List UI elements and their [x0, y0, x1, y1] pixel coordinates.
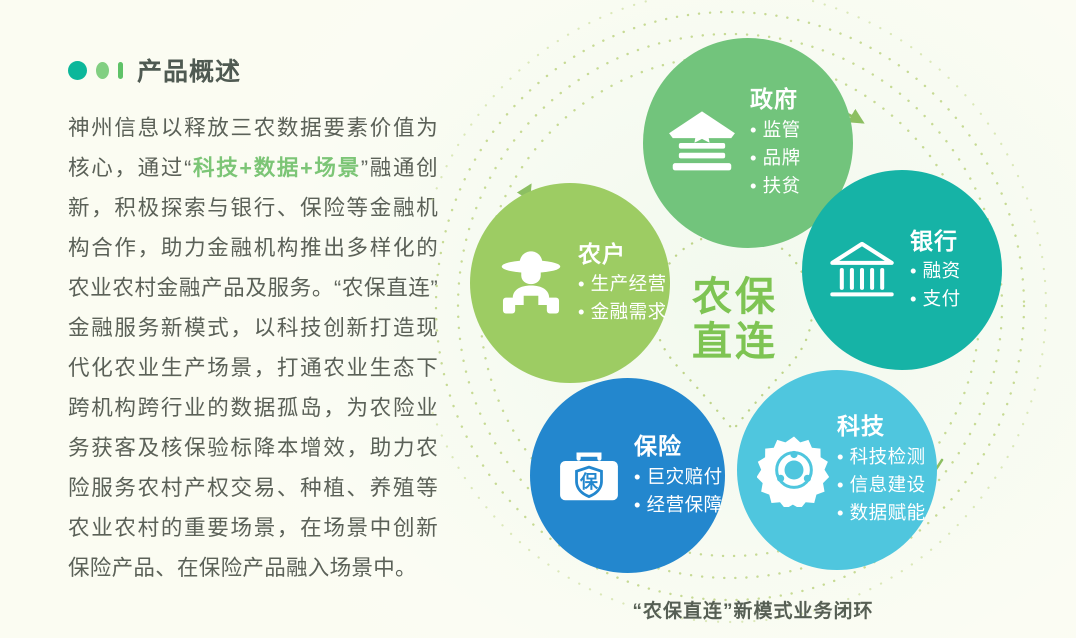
overview-paragraph: 神州信息以释放三农数据要素价值为核心，通过“科技+数据+场景”融通创新，积极探索…	[68, 108, 438, 588]
diagram-center-label: 农保 直连	[655, 245, 815, 395]
node-technology[interactable]: 科技 科技检测 信息建设 数据赋能	[737, 370, 937, 570]
node-technology-labels: 科技 科技检测 信息建设 数据赋能	[837, 412, 926, 527]
node-item: 经营保障	[634, 491, 723, 519]
node-item: 信息建设	[837, 471, 926, 499]
node-title: 科技	[837, 412, 885, 441]
node-item: 生产经营	[578, 270, 667, 298]
center-label-line-2: 直连	[692, 320, 778, 365]
node-bank-labels: 银行 融资 支付	[910, 227, 961, 314]
node-item: 品牌	[750, 144, 801, 172]
node-item: 监管	[750, 116, 801, 144]
business-loop-diagram: 政府 监管 品牌 扶贫 银行 融资	[430, 0, 1076, 638]
bar-dot-green-icon	[118, 62, 123, 79]
node-item: 巨灾赔付	[634, 463, 723, 491]
center-label-line-1: 农保	[692, 275, 778, 320]
insurance-briefcase-shield-icon: 保	[552, 439, 626, 513]
node-item: 融资	[910, 257, 961, 285]
paragraph-highlight: 科技+数据+场景	[192, 156, 361, 180]
svg-text:保: 保	[579, 471, 599, 492]
farmer-person-icon	[492, 244, 570, 322]
node-insurance[interactable]: 保 保险 巨灾赔付 经营保障	[530, 378, 725, 573]
node-government-labels: 政府 监管 品牌 扶贫	[750, 85, 801, 200]
circle-dot-green-icon	[96, 62, 109, 79]
node-title: 农户	[578, 240, 626, 269]
bank-columns-icon	[824, 232, 900, 308]
overview-text-panel: 产品概述 神州信息以释放三农数据要素价值为核心，通过“科技+数据+场景”融通创新…	[68, 52, 438, 588]
node-title: 银行	[910, 227, 958, 256]
node-item: 金融需求	[578, 298, 667, 326]
node-title: 政府	[750, 85, 798, 114]
gear-icon	[757, 433, 831, 507]
paragraph-part-2: ”融通创新，积极探索与银行、保险等金融机构合作，助力金融机构推出多样化的农业农村…	[68, 156, 438, 580]
diagram-caption: “农保直连”新模式业务闭环	[430, 596, 1076, 623]
node-item: 数据赋能	[837, 499, 926, 527]
section-heading: 产品概述	[68, 52, 438, 88]
product-overview-slide: 产品概述 神州信息以释放三农数据要素价值为核心，通过“科技+数据+场景”融通创新…	[0, 0, 1076, 638]
government-building-icon	[663, 104, 741, 182]
circle-dot-teal-icon	[68, 61, 87, 80]
node-farmer-labels: 农户 生产经营 金融需求	[578, 240, 667, 327]
node-bank[interactable]: 银行 融资 支付	[802, 170, 1002, 370]
node-item: 支付	[910, 285, 961, 313]
node-item: 科技检测	[837, 443, 926, 471]
page-title: 产品概述	[137, 52, 241, 88]
node-farmer[interactable]: 农户 生产经营 金融需求	[470, 183, 670, 383]
node-item: 扶贫	[750, 172, 801, 200]
node-title: 保险	[634, 432, 682, 461]
node-insurance-labels: 保险 巨灾赔付 经营保障	[634, 432, 723, 519]
